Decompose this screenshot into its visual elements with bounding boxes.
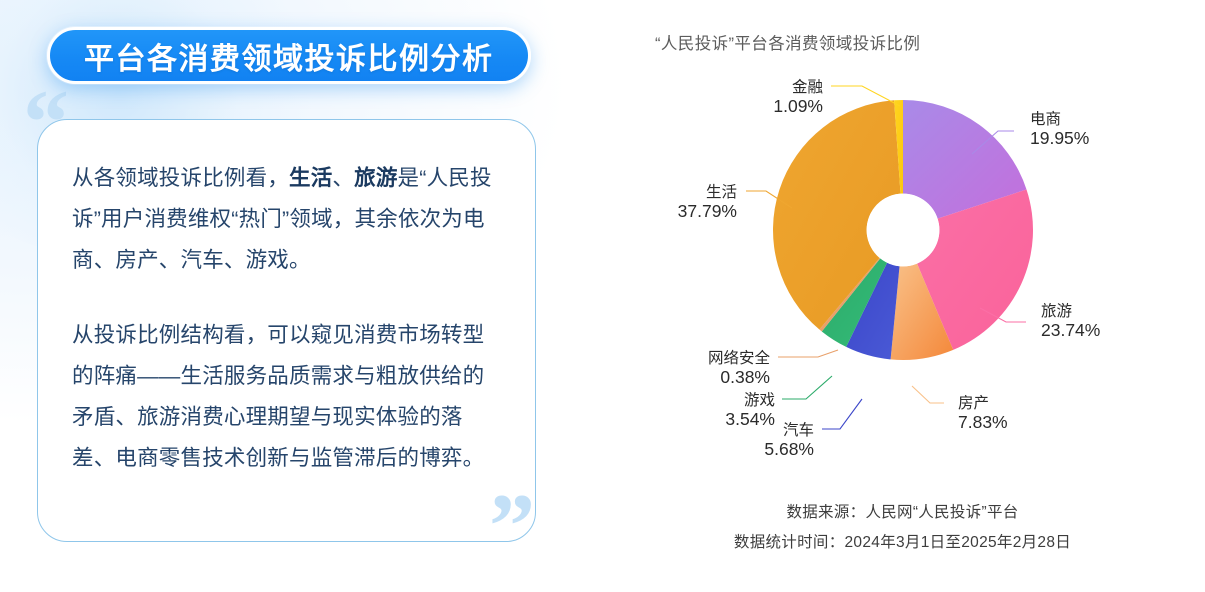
quote-open-icon: “	[23, 76, 69, 168]
pie-label-value: 23.74%	[1041, 320, 1100, 340]
pie-leader-line	[912, 386, 944, 403]
pie-label-value: 19.95%	[1030, 128, 1089, 148]
pie-label-value: 0.38%	[720, 367, 770, 387]
left-panel: 平台各消费领域投诉比例分析 “ 从各领域投诉比例看，生活、旅游是“人民投诉”用户…	[0, 0, 600, 592]
paragraph-1-part-2: 、	[332, 166, 354, 190]
pie-leader-line	[782, 376, 832, 399]
summary-paragraph-2: 从投诉比例结构看，可以窥见消费市场转型的阵痛——生活服务品质需求与粗放供给的矛盾…	[72, 315, 501, 479]
pie-chart: 电商19.95%旅游23.74%房产7.83%汽车5.68%游戏3.54%网络安…	[600, 58, 1205, 478]
donut-hole	[867, 194, 940, 267]
chart-title: “人民投诉”平台各消费领域投诉比例	[655, 30, 920, 54]
pie-label-name: 游戏	[744, 391, 775, 409]
pie-label-name: 汽车	[783, 421, 814, 439]
pie-label-value: 5.68%	[764, 439, 814, 459]
quote-close-icon: ”	[489, 480, 535, 572]
pie-label-name: 生活	[706, 183, 737, 201]
pie-label-name: 网络安全	[708, 349, 771, 367]
summary-card: 从各领域投诉比例看，生活、旅游是“人民投诉”用户消费维权“热门”领域，其余依次为…	[37, 119, 536, 542]
infographic-page: 平台各消费领域投诉比例分析 “ 从各领域投诉比例看，生活、旅游是“人民投诉”用户…	[0, 0, 1205, 592]
pie-label-name: 电商	[1030, 110, 1061, 128]
page-title-text: 平台各消费领域投诉比例分析	[84, 34, 494, 78]
footnote-data-source: 数据来源：人民网“人民投诉”平台	[600, 498, 1205, 528]
summary-paragraph-1: 从各领域投诉比例看，生活、旅游是“人民投诉”用户消费维权“热门”领域，其余依次为…	[72, 158, 501, 281]
pie-label-value: 1.09%	[773, 96, 823, 116]
pie-chart-svg: 电商19.95%旅游23.74%房产7.83%汽车5.68%游戏3.54%网络安…	[600, 58, 1205, 478]
pie-leader-line	[778, 350, 838, 357]
pie-label-name: 房产	[958, 394, 989, 412]
paragraph-1-highlight-2: 旅游	[354, 166, 397, 190]
pie-label-name: 金融	[792, 78, 823, 96]
page-title: 平台各消费领域投诉比例分析	[47, 27, 531, 84]
pie-label-name: 旅游	[1041, 302, 1072, 320]
pie-label-value: 37.79%	[678, 201, 737, 221]
pie-label-value: 7.83%	[958, 412, 1008, 432]
paragraph-1-highlight-1: 生活	[289, 166, 332, 190]
pie-leader-line	[822, 399, 862, 429]
footnote-data-period: 数据统计时间：2024年3月1日至2025年2月28日	[600, 528, 1205, 558]
right-panel: “人民投诉”平台各消费领域投诉比例 电商19.95%旅游23.74%房产7.83…	[600, 0, 1205, 592]
paragraph-1-part-1: 从各领域投诉比例看，	[72, 166, 289, 190]
chart-footnotes: 数据来源：人民网“人民投诉”平台 数据统计时间：2024年3月1日至2025年2…	[600, 498, 1205, 558]
pie-label-value: 3.54%	[725, 409, 775, 429]
